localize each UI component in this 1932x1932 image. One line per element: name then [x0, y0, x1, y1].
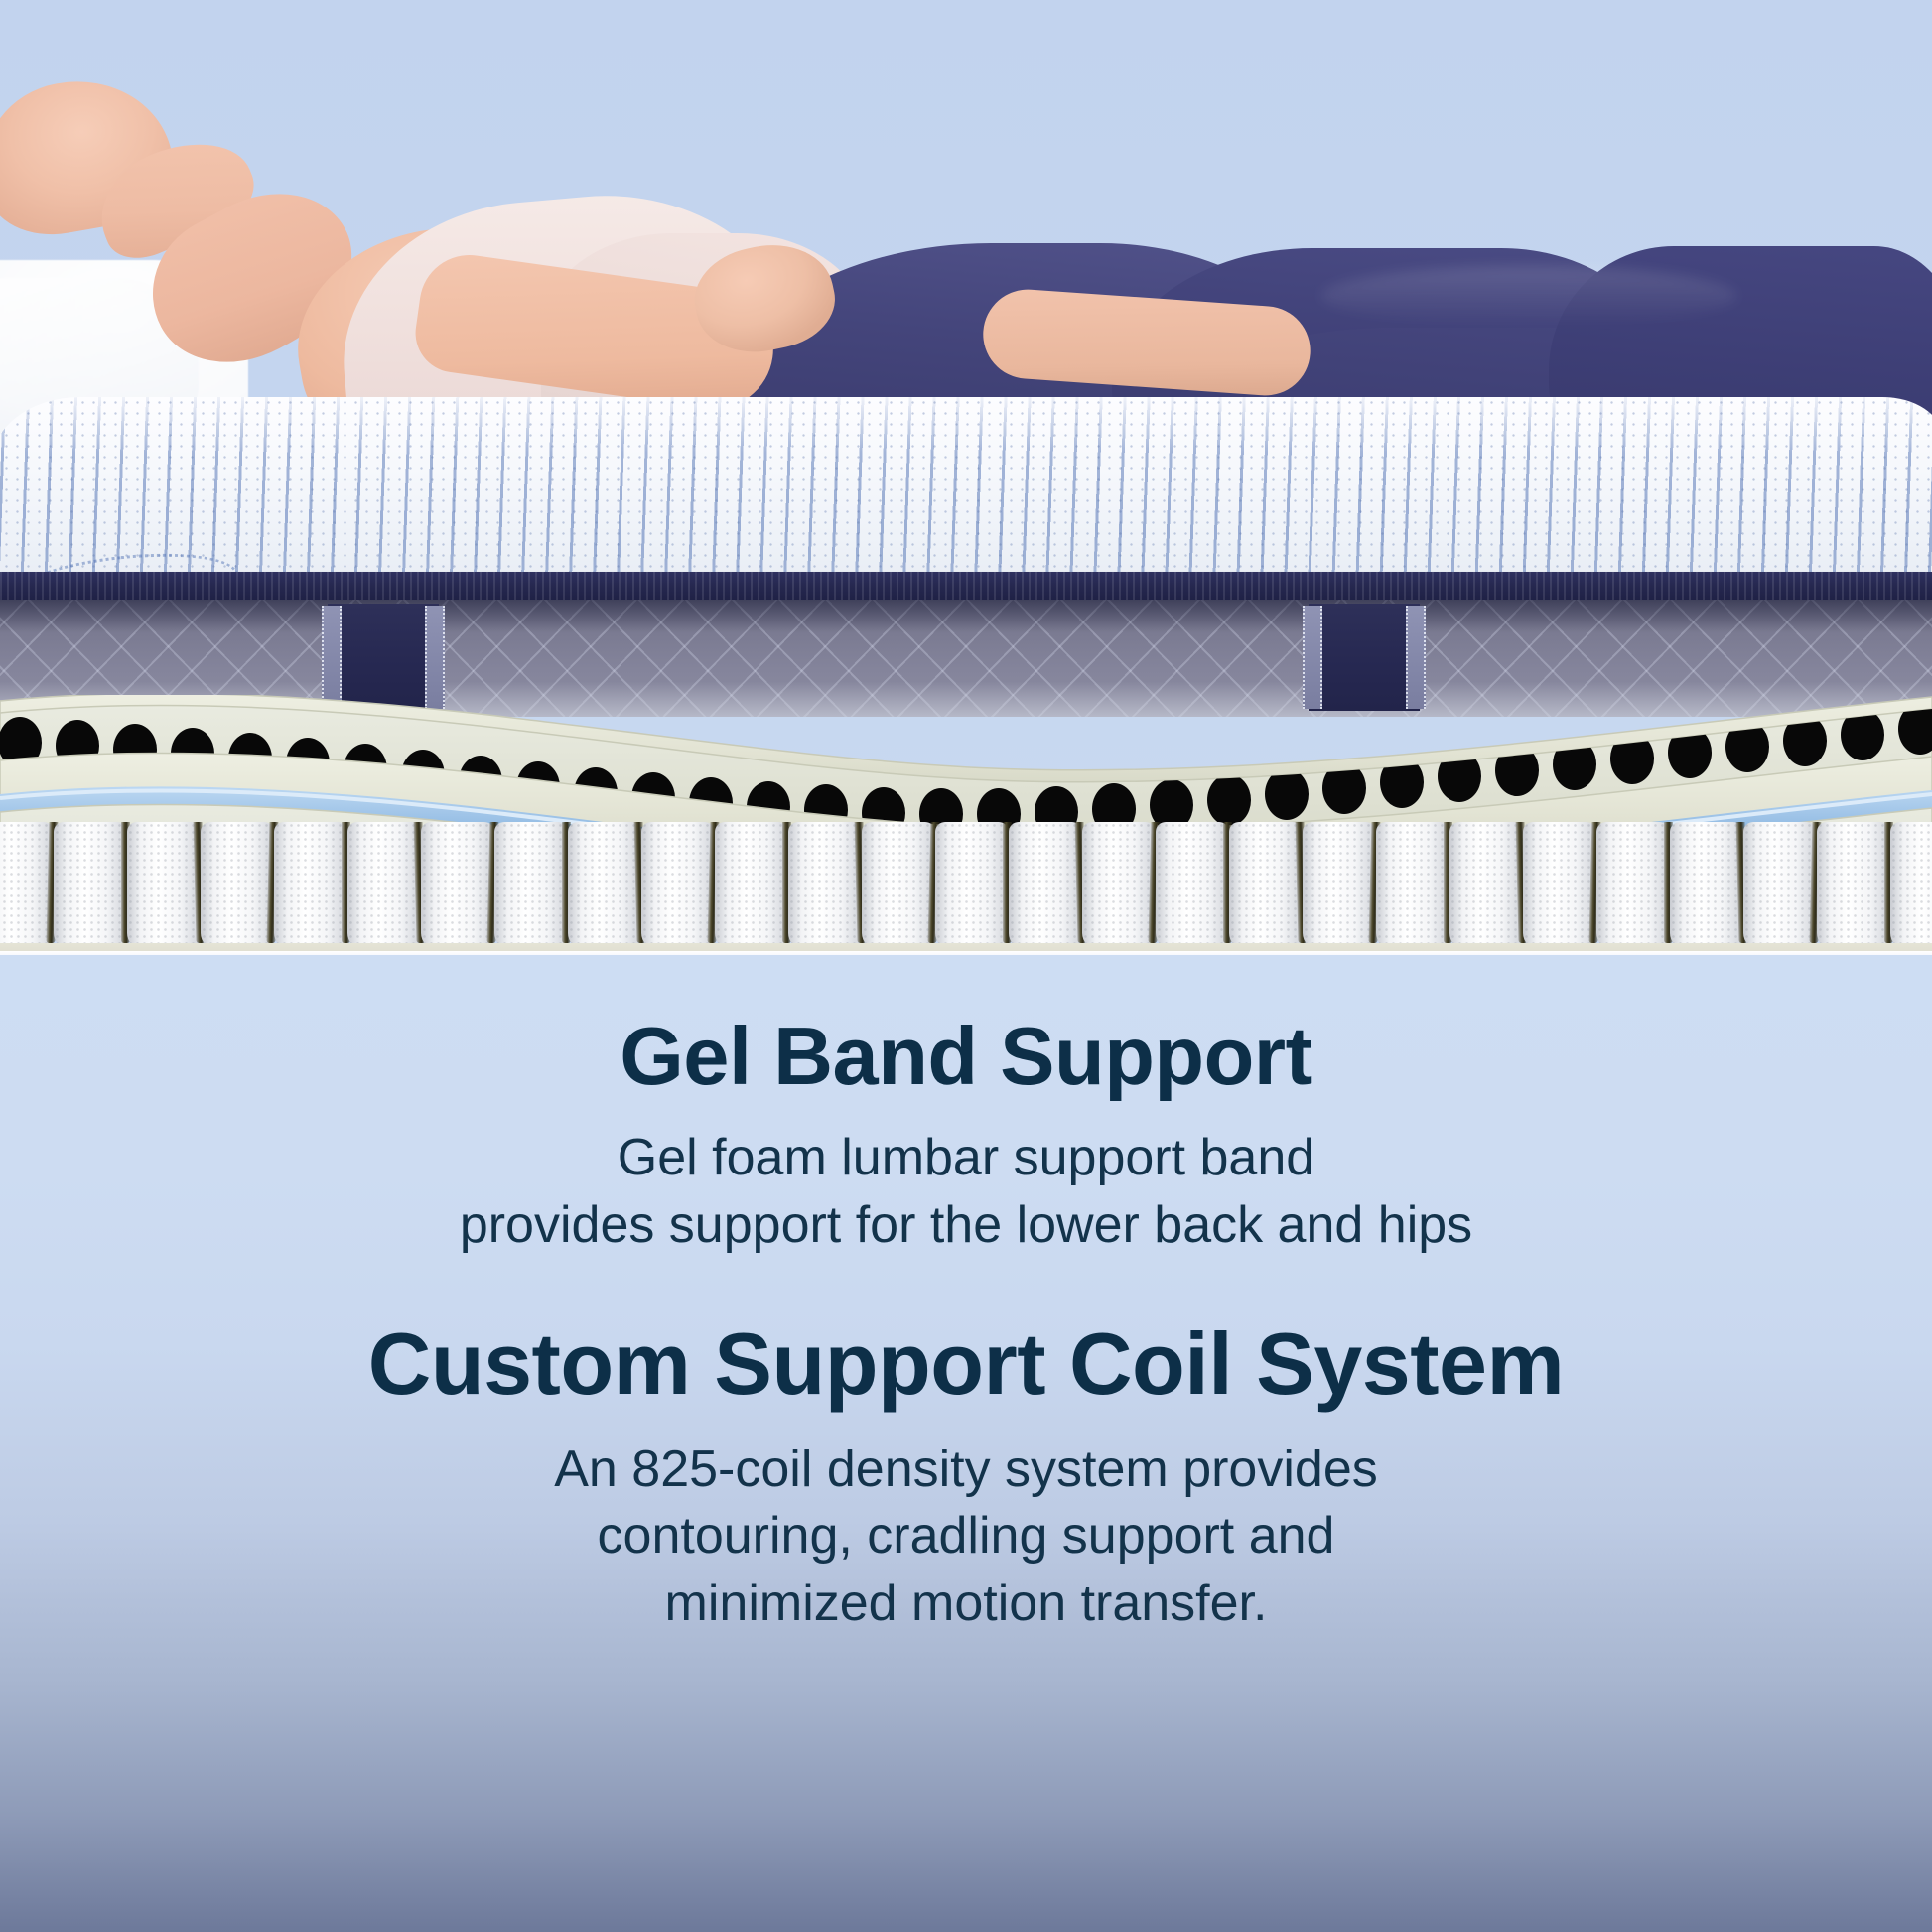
description-line: provides support for the lower back and …: [0, 1192, 1932, 1260]
coil-pocket: [1229, 822, 1303, 949]
coil-pocket: [1303, 822, 1376, 949]
coil-pocket: [1743, 822, 1817, 949]
description-line: contouring, cradling support and: [0, 1503, 1932, 1571]
coil-pocket: [1523, 822, 1596, 949]
description-line: Gel foam lumbar support band: [0, 1125, 1932, 1192]
coil-pocket: [274, 822, 347, 949]
coil-pocket: [201, 822, 274, 949]
coil-pocket: [1596, 822, 1670, 949]
mattress-photo: [0, 0, 1932, 955]
product-feature-graphic: Gel Band Support Gel foam lumbar support…: [0, 0, 1932, 1932]
coil-pocket: [1156, 822, 1229, 949]
coil-pocket: [568, 822, 641, 949]
coil-pocket: [1376, 822, 1449, 949]
coil-pocket: [862, 822, 935, 949]
coil-pocket: [421, 822, 494, 949]
feature-description-coil-system: An 825-coil density system provides cont…: [0, 1437, 1932, 1638]
pocketed-coil-system: [0, 822, 1932, 949]
coil-pocket: [347, 822, 421, 949]
quilted-top-panel: [0, 397, 1932, 596]
welt-texture: [0, 572, 1932, 602]
coil-pocket: [935, 822, 1009, 949]
coil-pocket: [715, 822, 788, 949]
coil-pocket: [1009, 822, 1082, 949]
feature-text-section: Gel Band Support Gel foam lumbar support…: [0, 955, 1932, 1932]
coil-pocket: [641, 822, 715, 949]
coil-pocket: [1670, 822, 1743, 949]
feature-block-coil-system: Custom Support Coil System An 825-coil d…: [0, 1318, 1932, 1637]
description-line: minimized motion transfer.: [0, 1571, 1932, 1638]
coil-pocket: [1449, 822, 1523, 949]
feature-heading-coil-system: Custom Support Coil System: [0, 1318, 1932, 1410]
coil-pocket: [788, 822, 862, 949]
fabric-sheen: [1320, 266, 1737, 326]
quilt-dot-texture: [0, 397, 1932, 596]
description-line: An 825-coil density system provides: [0, 1437, 1932, 1504]
feature-description-gel-band: Gel foam lumbar support band provides su…: [0, 1125, 1932, 1259]
feature-heading-gel-band: Gel Band Support: [0, 1013, 1932, 1099]
coil-pocket: [1890, 822, 1932, 949]
coil-pocket: [127, 822, 201, 949]
feature-block-gel-band: Gel Band Support Gel foam lumbar support…: [0, 1013, 1932, 1259]
navy-welt-piping: [0, 572, 1932, 602]
coil-pocket: [54, 822, 127, 949]
coil-pocket: [1082, 822, 1156, 949]
coil-pocket: [1817, 822, 1890, 949]
coil-pocket: [494, 822, 568, 949]
